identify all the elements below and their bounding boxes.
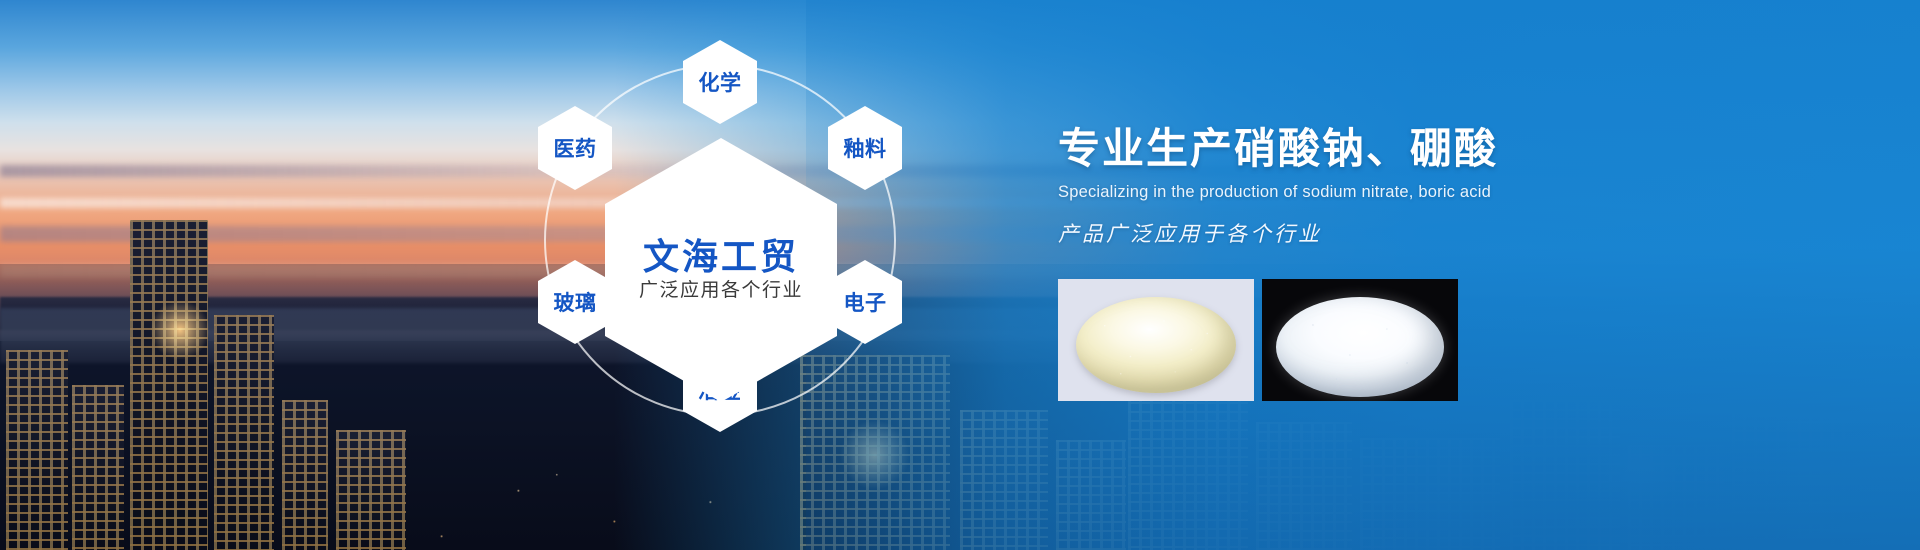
headline-block: 专业生产硝酸钠、硼酸 Specializing in the productio… <box>1058 125 1818 248</box>
industry-hex-diagram: 化学 釉料 电子 冶金 玻璃 医药 文海工贸 广泛应用各个行业 <box>520 18 920 533</box>
tower <box>336 430 406 550</box>
product-photo-row <box>1058 279 1458 401</box>
background-cityscape <box>0 0 1920 550</box>
powder-pile <box>1276 297 1444 397</box>
tower <box>130 220 208 550</box>
promo-banner: 化学 釉料 电子 冶金 玻璃 医药 文海工贸 广泛应用各个行业 专业生产硝酸钠、… <box>0 0 1920 550</box>
headline-tagline: 产品广泛应用于各个行业 <box>1058 218 1818 248</box>
company-tagline: 广泛应用各个行业 <box>639 280 803 303</box>
tower <box>214 315 274 550</box>
company-name: 文海工贸 <box>643 237 799 277</box>
blue-overlay-vertical <box>806 0 1920 550</box>
tower <box>6 350 68 550</box>
hex-node-label: 电子 <box>844 287 887 317</box>
tower <box>282 400 328 550</box>
hex-node-label: 化学 <box>699 67 742 97</box>
light-glow <box>150 300 210 360</box>
headline: 专业生产硝酸钠、硼酸 <box>1058 125 1818 173</box>
hex-node-label: 釉料 <box>844 133 887 163</box>
powder-pile <box>1076 297 1236 393</box>
product-photo-sodium-nitrate <box>1058 279 1254 401</box>
product-photo-boric-acid <box>1262 279 1458 401</box>
hex-node-label: 玻璃 <box>554 287 597 317</box>
hex-node-label: 医药 <box>554 133 597 163</box>
headline-english: Specializing in the production of sodium… <box>1058 183 1818 202</box>
tower <box>72 385 124 550</box>
